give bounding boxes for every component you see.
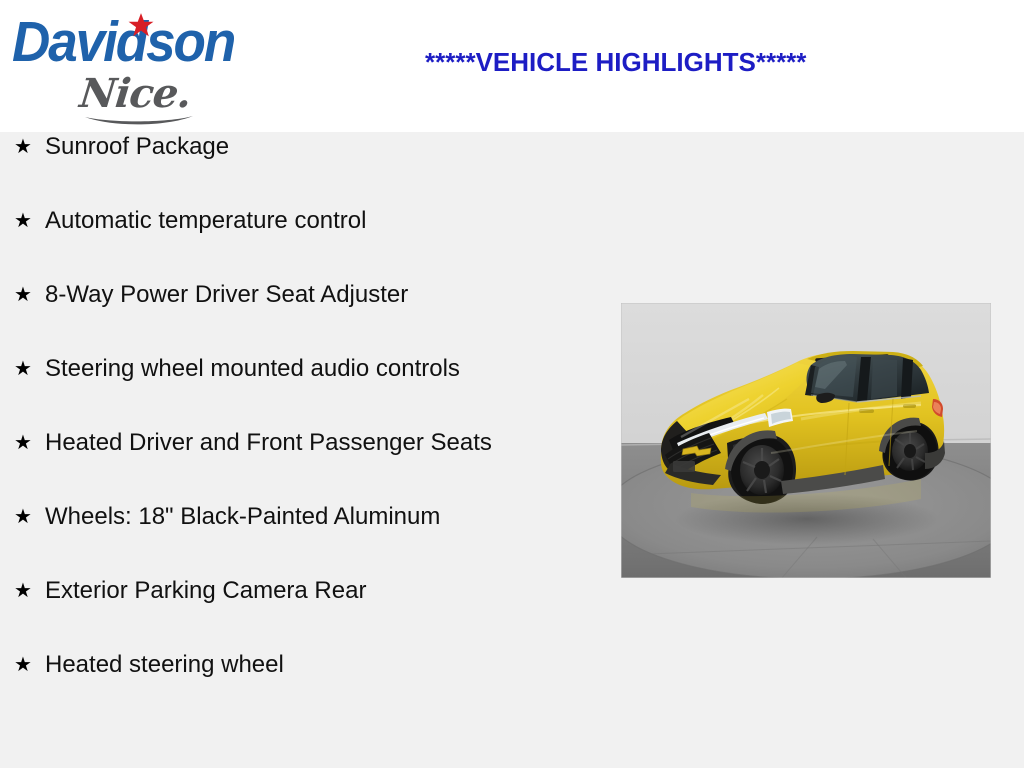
star-bullet-icon: ★: [14, 280, 34, 310]
list-item: ★ Heated steering wheel: [0, 650, 600, 724]
highlight-label: 8-Way Power Driver Seat Adjuster: [45, 280, 545, 310]
star-bullet-icon: ★: [14, 206, 34, 236]
star-bullet-icon: ★: [14, 576, 34, 606]
vehicle-highlights-page: Davidson Nice. *****VEHICLE HIGHLIGHTS**…: [0, 0, 1024, 768]
vehicle-highlights-list: ★ Sunroof Package ★ Automatic temperatur…: [0, 132, 600, 724]
highlight-label: Heated steering wheel: [45, 650, 545, 680]
highlight-label: Steering wheel mounted audio controls: [45, 354, 545, 384]
star-bullet-icon: ★: [14, 132, 34, 162]
logo-script-nice: Nice.: [78, 74, 193, 114]
dealer-logo[interactable]: Davidson Nice.: [10, 4, 270, 128]
list-item: ★ Automatic temperature control: [0, 206, 600, 280]
highlight-label: Wheels: 18" Black-Painted Aluminum: [45, 502, 545, 532]
star-icon: [128, 12, 154, 38]
logo-wordmark: Davidson: [12, 14, 234, 71]
page-body: ★ Sunroof Package ★ Automatic temperatur…: [0, 132, 1024, 768]
list-item: ★ Sunroof Package: [0, 132, 600, 206]
list-item: ★ Exterior Parking Camera Rear: [0, 576, 600, 650]
highlight-label: Sunroof Package: [45, 132, 545, 162]
star-bullet-icon: ★: [14, 354, 34, 384]
list-item: ★ Wheels: 18" Black-Painted Aluminum: [0, 502, 600, 576]
list-item: ★ Heated Driver and Front Passenger Seat…: [0, 428, 600, 502]
list-item: ★ Steering wheel mounted audio controls: [0, 354, 600, 428]
logo-swoosh-icon: [84, 114, 194, 128]
highlight-label: Automatic temperature control: [45, 206, 545, 236]
star-bullet-icon: ★: [14, 650, 34, 680]
vehicle-photo[interactable]: [621, 303, 991, 578]
page-title: *****VEHICLE HIGHLIGHTS*****: [425, 47, 806, 77]
star-bullet-icon: ★: [14, 502, 34, 532]
highlight-label: Exterior Parking Camera Rear: [45, 576, 545, 606]
list-item: ★ 8-Way Power Driver Seat Adjuster: [0, 280, 600, 354]
page-header: Davidson Nice. *****VEHICLE HIGHLIGHTS**…: [0, 0, 1024, 132]
highlight-label: Heated Driver and Front Passenger Seats: [45, 428, 545, 458]
star-bullet-icon: ★: [14, 428, 34, 458]
